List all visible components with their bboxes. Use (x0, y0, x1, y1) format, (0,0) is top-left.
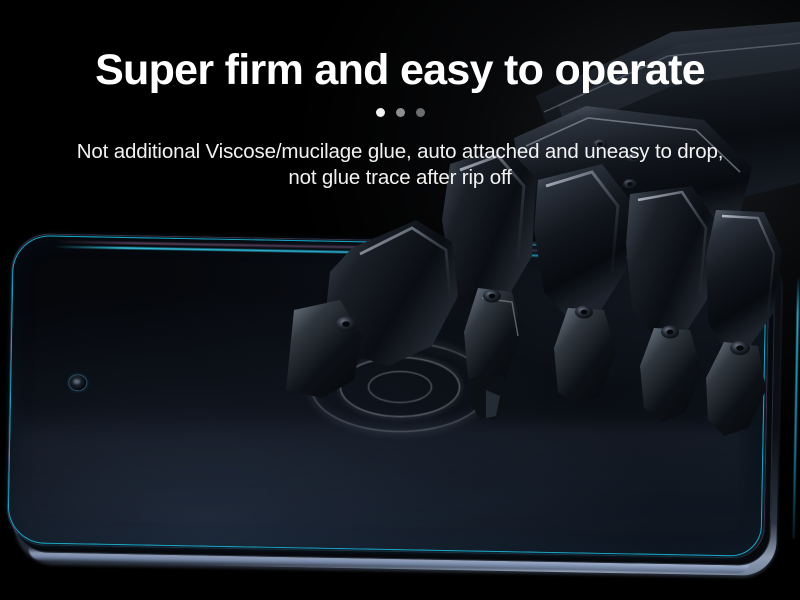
subtitle-line-2: not glue trace after rip off (0, 165, 800, 191)
smartphone-with-tempered-glass (8, 236, 800, 590)
page-title: Super firm and easy to operate (0, 44, 800, 96)
carousel-dot-3[interactable] (416, 108, 425, 117)
carousel-dot-2[interactable] (396, 108, 405, 117)
product-banner: Super firm and easy to operate Not addit… (0, 0, 800, 600)
tempered-glass-sheet (8, 236, 765, 556)
subtitle-line-1: Not additional Viscose/mucilage glue, au… (0, 139, 800, 165)
subtitle: Not additional Viscose/mucilage glue, au… (0, 139, 800, 191)
carousel-dots[interactable] (0, 108, 800, 117)
glass-right-edge-glow (793, 276, 800, 538)
carousel-dot-1[interactable] (376, 108, 385, 117)
